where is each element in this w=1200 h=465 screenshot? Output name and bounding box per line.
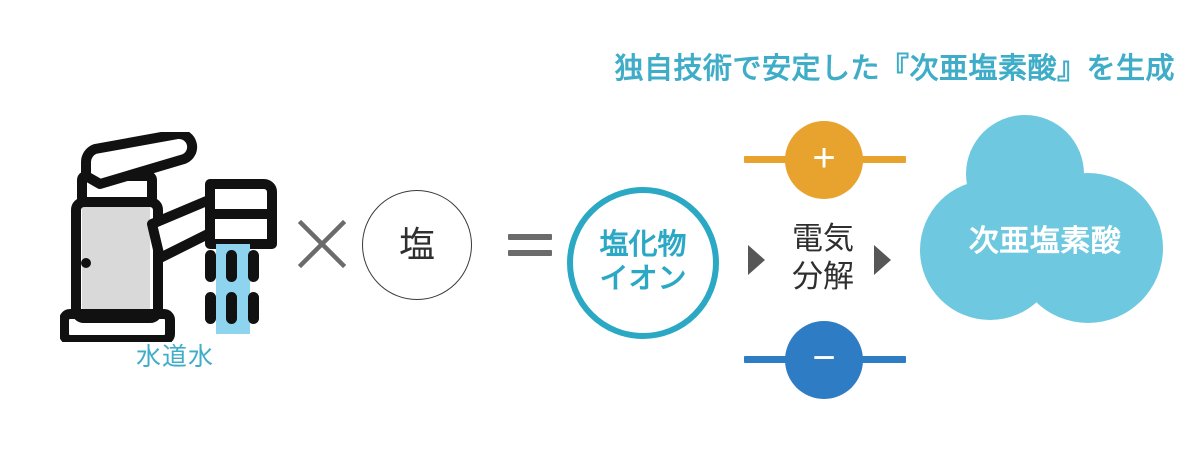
chloride-ion-circle: 塩化物 イオン (567, 187, 719, 339)
equals-bar-top (508, 234, 552, 240)
equals-bar-bottom (508, 250, 552, 256)
hypochlorous-acid-cloud: 次亜塩素酸 (920, 115, 1170, 365)
anode-node: + (785, 121, 863, 199)
chloride-ion-label-line1: 塩化物 (599, 229, 686, 263)
tap-water-label: 水道水 (60, 337, 290, 373)
cathode-node: − (785, 321, 863, 399)
salt-circle: 塩 (362, 190, 472, 300)
minus-icon: − (812, 338, 835, 378)
salt-label: 塩 (399, 227, 435, 263)
multiply-icon (296, 218, 348, 270)
arrow-right-icon-left (748, 245, 765, 275)
hypochlorous-acid-label: 次亜塩素酸 (920, 216, 1170, 260)
page-title: 独自技術で安定した『次亜塩素酸』を生成 (575, 54, 1175, 86)
cathode-electrode: − (744, 321, 906, 399)
diagram-canvas: 独自技術で安定した『次亜塩素酸』を生成 (0, 0, 1200, 465)
electrolysis-label-line2: 分解 (778, 258, 868, 296)
equals-icon (508, 232, 552, 260)
plus-icon: + (812, 138, 835, 178)
arrow-right-icon-right (874, 245, 891, 275)
faucet-icon (60, 132, 290, 342)
tap-water-group: 水道水 (60, 132, 290, 382)
electrolysis-label: 電気 分解 (778, 220, 868, 296)
chloride-ion-label-line2: イオン (599, 263, 686, 297)
electrolysis-label-line1: 電気 (778, 220, 868, 258)
anode-electrode: + (744, 121, 906, 199)
